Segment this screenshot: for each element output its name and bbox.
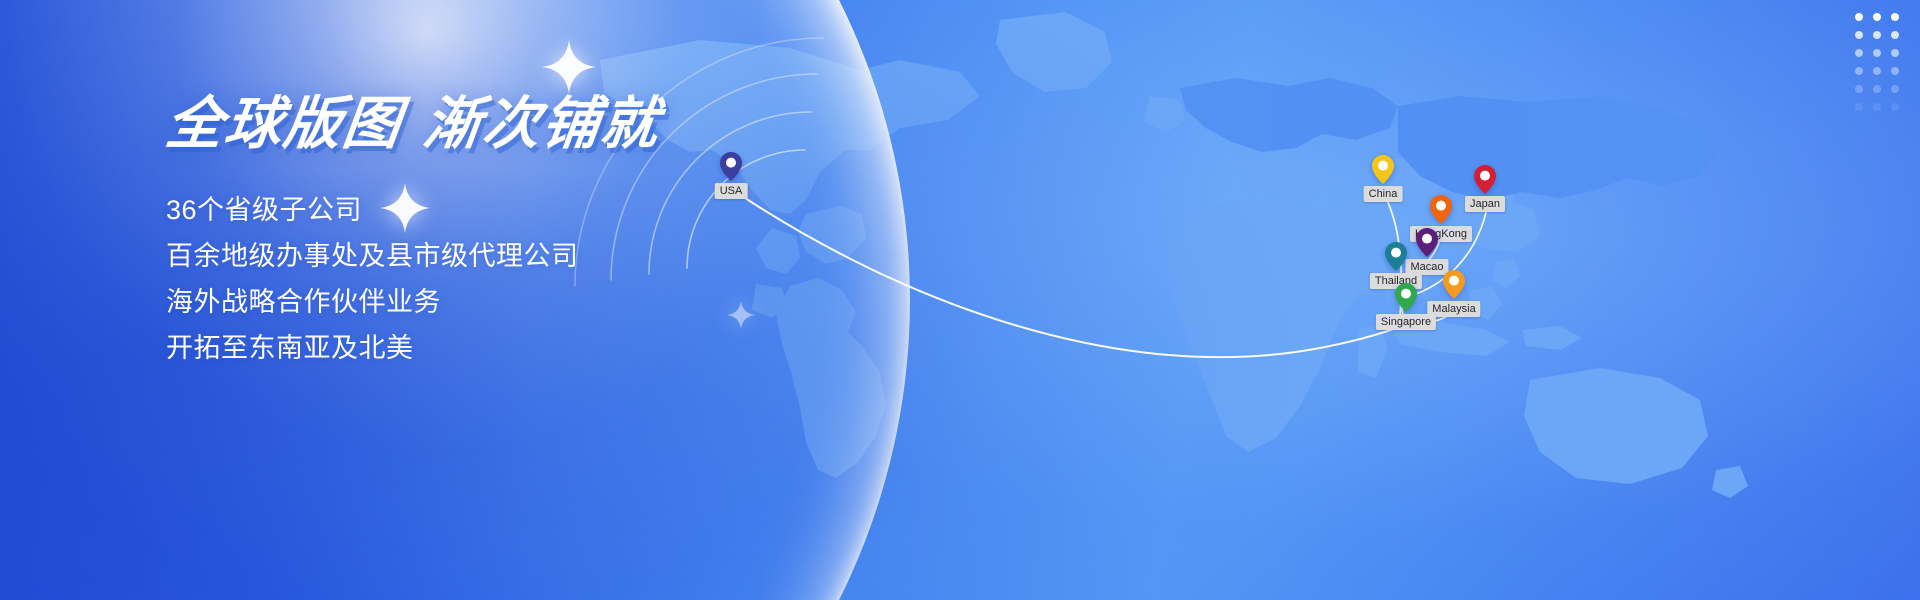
location-pin-icon: [720, 152, 742, 181]
subtitle-line: 百余地级办事处及县市级代理公司: [166, 233, 866, 279]
map-pin-thailand[interactable]: Thailand: [1385, 242, 1407, 271]
banner-copy: 全球版图 渐次铺就 36个省级子公司 百余地级办事处及县市级代理公司 海外战略合…: [166, 96, 866, 371]
location-pin-icon: [1385, 242, 1407, 271]
location-pin-icon: [1430, 195, 1452, 224]
map-pin-hongkong[interactable]: HongKong: [1430, 195, 1452, 224]
location-pin-icon: [1443, 270, 1465, 299]
subtitle-line: 海外战略合作伙伴业务: [166, 279, 866, 325]
subtitle-list: 36个省级子公司 百余地级办事处及县市级代理公司 海外战略合作伙伴业务 开拓至东…: [166, 187, 866, 371]
location-pin-icon: [1416, 228, 1438, 257]
page-title: 全球版图 渐次铺就: [163, 96, 870, 153]
map-pin-usa[interactable]: USA: [720, 152, 742, 181]
global-map-banner: 全球版图 渐次铺就 36个省级子公司 百余地级办事处及县市级代理公司 海外战略合…: [0, 0, 1920, 600]
subtitle-line: 开拓至东南亚及北美: [166, 325, 866, 371]
map-pin-macao[interactable]: Macao: [1416, 228, 1438, 257]
map-pin-japan[interactable]: Japan: [1474, 165, 1496, 194]
map-pin-label: Singapore: [1376, 314, 1436, 330]
map-pin-china[interactable]: China: [1372, 155, 1394, 184]
map-pin-label: China: [1364, 186, 1403, 202]
location-pin-icon: [1395, 283, 1417, 312]
map-pin-label: Japan: [1465, 196, 1505, 212]
location-pin-icon: [1372, 155, 1394, 184]
map-pin-singapore[interactable]: Singapore: [1395, 283, 1417, 312]
location-pin-icon: [1474, 165, 1496, 194]
sparkle-icon-large: [540, 38, 598, 96]
subtitle-line: 36个省级子公司: [166, 187, 866, 233]
dot-grid-decoration: [1850, 8, 1904, 116]
map-pin-malaysia[interactable]: Malaysia: [1443, 270, 1465, 299]
map-pin-label: USA: [715, 183, 748, 199]
